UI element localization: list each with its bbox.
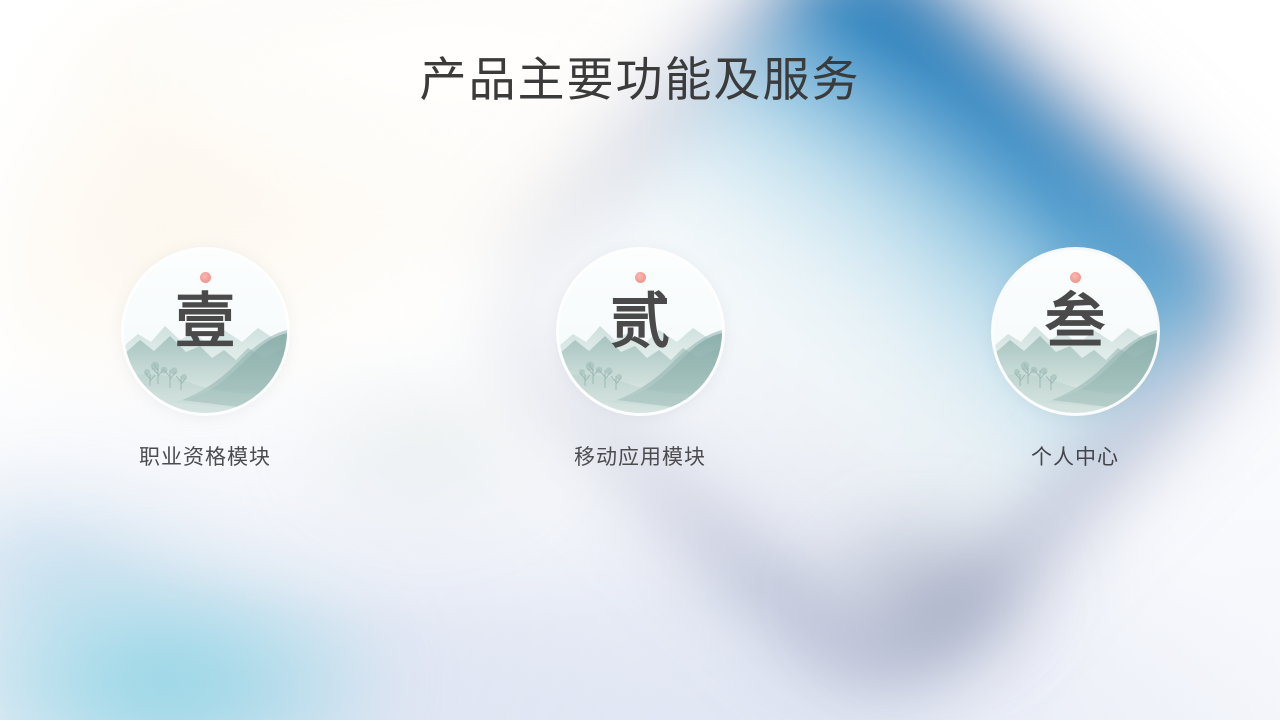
item-numeral: 贰 <box>559 288 722 356</box>
feature-item-row: 壹 职业资格模块 <box>0 250 1280 510</box>
sun-dot-icon <box>200 272 211 283</box>
ink-landscape-circle-icon: 叁 <box>994 250 1157 413</box>
background-cyan-blob <box>0 555 400 720</box>
feature-item-1[interactable]: 壹 职业资格模块 <box>75 250 335 472</box>
item-numeral: 壹 <box>124 288 287 356</box>
page-title: 产品主要功能及服务 <box>0 50 1280 110</box>
feature-item-2[interactable]: 贰 移动应用模块 <box>510 250 770 472</box>
feature-item-label: 个人中心 <box>945 444 1205 472</box>
presentation-slide: 产品主要功能及服务 <box>0 0 1280 720</box>
sun-dot-icon <box>635 272 646 283</box>
background-slate-blob <box>800 500 1060 690</box>
feature-item-label: 移动应用模块 <box>510 444 770 472</box>
feature-item-label: 职业资格模块 <box>75 444 335 472</box>
item-numeral: 叁 <box>994 288 1157 356</box>
sun-dot-icon <box>1070 272 1081 283</box>
ink-landscape-circle-icon: 贰 <box>559 250 722 413</box>
ink-landscape-circle-icon: 壹 <box>124 250 287 413</box>
feature-item-3[interactable]: 叁 个人中心 <box>945 250 1205 472</box>
